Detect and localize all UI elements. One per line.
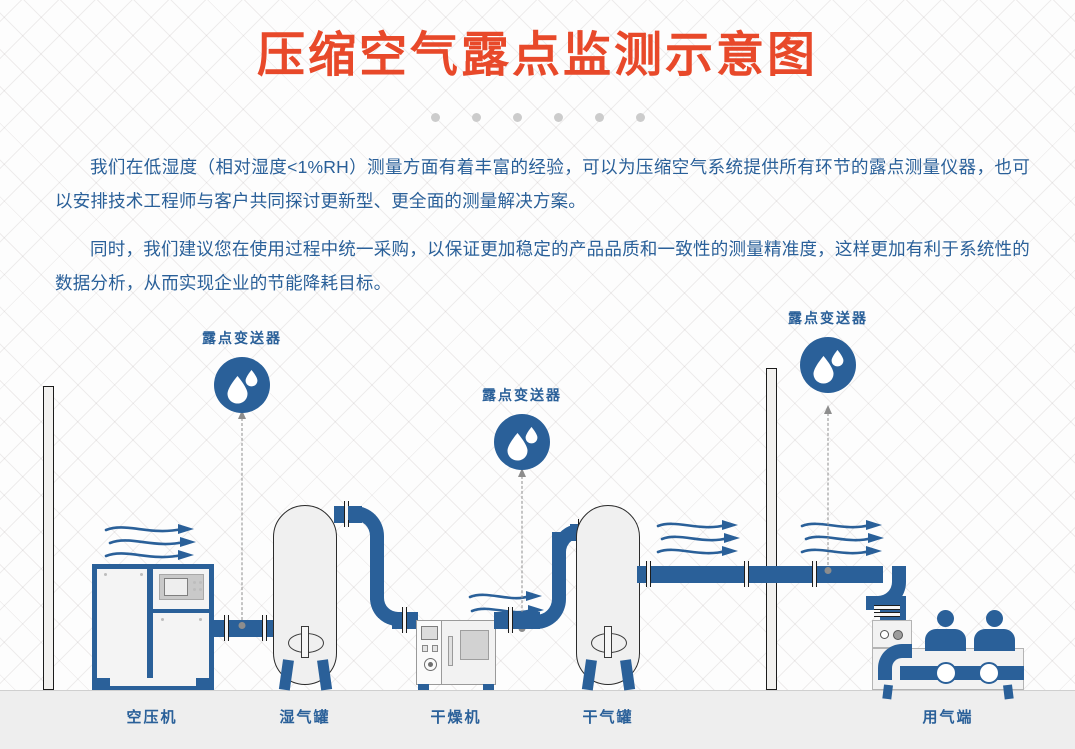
- infographic-root: 压缩空气露点监测示意图 我们在低湿度（相对湿度<1%RH）测量方面有着丰富的经验…: [0, 0, 1075, 749]
- bench-valve-wheel[interactable]: [978, 662, 1000, 684]
- compressor-screw: [161, 618, 164, 621]
- transmitter-label: 露点变送器: [482, 385, 562, 405]
- workbench-leg: [1003, 684, 1014, 699]
- decorative-dot-row: [0, 113, 1075, 122]
- station-label-air-compressor: 空压机: [126, 706, 177, 727]
- station-label-point-of-use: 用气端: [922, 706, 973, 727]
- signal-tap-point: [239, 622, 246, 629]
- signal-dashed-line: [828, 413, 829, 570]
- compressor-left-panel: [97, 569, 147, 684]
- worker-body: [925, 629, 966, 651]
- dryer-dial-knob[interactable]: [424, 658, 437, 671]
- wall-column-left: [43, 386, 54, 690]
- compressor-screw: [199, 618, 202, 621]
- dew-point-transmitter-1[interactable]: 露点变送器: [202, 328, 282, 413]
- pipe-flange: [224, 615, 229, 641]
- transmitter-label: 露点变送器: [788, 308, 868, 328]
- pipe-flange: [262, 615, 267, 641]
- station-label-air-dryer: 干燥机: [430, 706, 481, 727]
- dryer-display[interactable]: [421, 626, 438, 640]
- signal-dashed-line: [522, 476, 523, 628]
- compressor-screen-display: [164, 578, 188, 596]
- decorative-dot: [595, 113, 604, 122]
- station-label-wet-air-tank: 湿气罐: [279, 706, 330, 727]
- dryer-vent-slot: [448, 636, 453, 666]
- compressor-screw: [140, 573, 143, 576]
- transmitter-label: 露点变送器: [202, 328, 282, 348]
- dry-tank-valve-stem: [604, 626, 612, 658]
- decorative-dot: [554, 113, 563, 122]
- worker-body: [974, 629, 1015, 651]
- workbench-leg: [882, 684, 893, 699]
- airflow-arrows-compressor: [104, 522, 200, 564]
- dew-point-transmitter-2[interactable]: 露点变送器: [482, 385, 562, 470]
- station-label-row: 空压机湿气罐干燥机干气罐用气端: [0, 706, 1075, 736]
- water-droplet-icon[interactable]: [494, 414, 550, 470]
- airflow-arrows-main-right: [800, 518, 886, 560]
- bench-valve-wheel[interactable]: [935, 662, 957, 684]
- dew-point-transmitter-3[interactable]: 露点变送器: [788, 308, 868, 393]
- pipe-flange: [812, 561, 817, 587]
- pipe-flange: [402, 607, 407, 633]
- compressor-right-panel-bottom: [153, 613, 209, 684]
- worker-head: [986, 610, 1003, 627]
- pipe-flange-horizontal: [874, 605, 900, 610]
- wet-air-tank: [273, 505, 337, 685]
- pipe-flange-horizontal: [874, 612, 900, 617]
- dryer-foot: [483, 684, 494, 690]
- water-droplet-icon[interactable]: [214, 357, 270, 413]
- compressor-screen-led: [193, 588, 196, 591]
- pipe-compressor-to-wet-tank: [212, 620, 278, 637]
- dryer-foot: [418, 684, 429, 690]
- station-label-dry-air-tank: 干气罐: [582, 706, 633, 727]
- pipe-bench-distribution: [900, 666, 1024, 680]
- pipe-flange: [508, 607, 513, 633]
- compressor-screen-led: [199, 588, 202, 591]
- control-box-indicator-light: [880, 630, 889, 639]
- airflow-arrows-main-left: [656, 518, 742, 560]
- pipe-dry-tank-to-use-point: [637, 566, 883, 583]
- decorative-dot: [431, 113, 440, 122]
- dryer-button[interactable]: [432, 645, 438, 652]
- signal-dashed-line: [242, 418, 243, 625]
- compressor-screw: [104, 573, 107, 576]
- intro-paragraph-1: 我们在低湿度（相对湿度<1%RH）测量方面有着丰富的经验，可以为压缩空气系统提供…: [55, 150, 1030, 218]
- dryer-access-panel: [460, 630, 489, 660]
- process-diagram: 露点变送器露点变送器露点变送器 空压机湿气罐干燥机干气罐用气端: [0, 300, 1075, 749]
- pipe-flange: [646, 561, 651, 587]
- decorative-dot: [472, 113, 481, 122]
- compressor-screen-led: [193, 581, 196, 584]
- decorative-dot: [513, 113, 522, 122]
- water-droplet-icon[interactable]: [800, 337, 856, 393]
- compressor-screen-led: [199, 581, 202, 584]
- control-box-dial[interactable]: [893, 630, 903, 640]
- intro-paragraph-2: 同时，我们建议您在使用过程中统一采购，以保证更加稳定的产品品质和一致性的测量精准…: [55, 232, 1030, 300]
- wall-column-right: [766, 368, 777, 690]
- decorative-dot: [636, 113, 645, 122]
- signal-tap-point: [825, 567, 832, 574]
- dryer-button[interactable]: [422, 645, 428, 652]
- compressor-base-cutout: [110, 678, 196, 686]
- page-title: 压缩空气露点监测示意图: [0, 26, 1075, 86]
- dry-air-tank: [576, 505, 640, 685]
- wet-tank-valve-stem: [301, 626, 309, 658]
- worker-head: [937, 610, 954, 627]
- pipe-flange: [744, 561, 749, 587]
